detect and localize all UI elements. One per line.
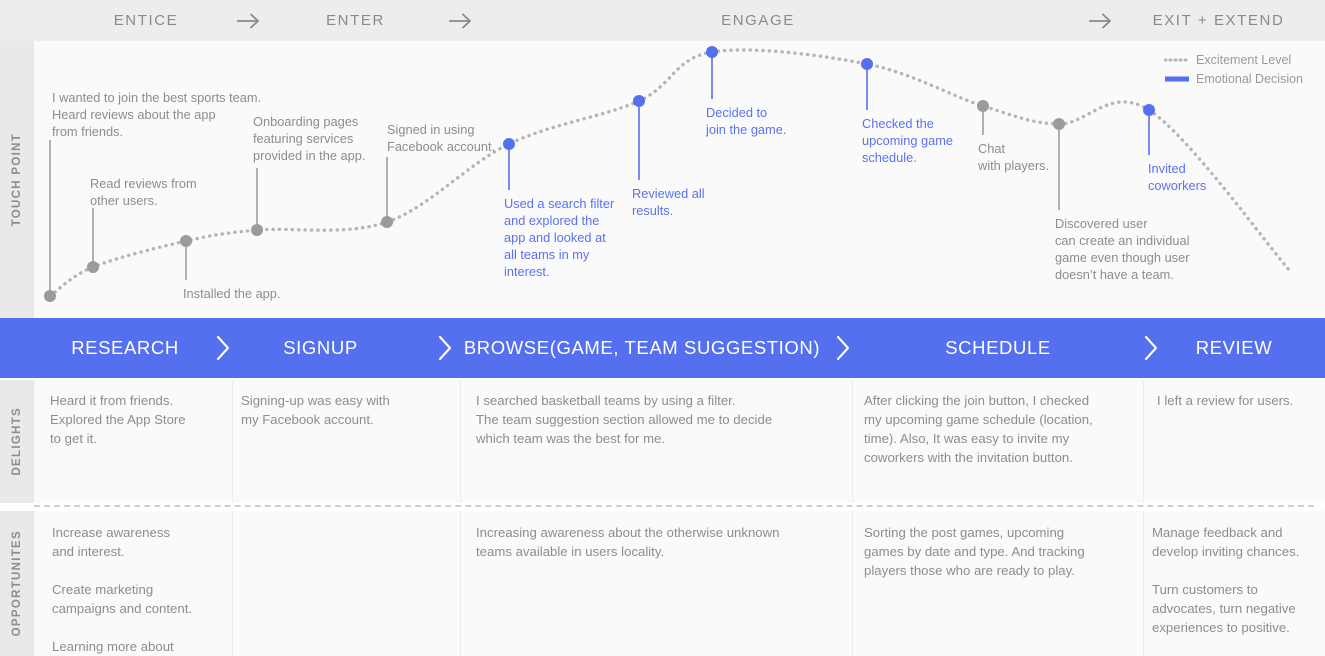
touchpoint-dot[interactable] [503, 138, 515, 150]
stage-label: SIGNUP [283, 337, 358, 359]
phase-entice[interactable]: ENTICE [40, 0, 252, 41]
row-label-touchpoint: TOUCH POINT [0, 41, 34, 318]
solid-line-icon [1164, 75, 1190, 83]
stage-signup[interactable]: SIGNUP [238, 318, 403, 378]
row-label-touchpoint-text: TOUCH POINT [11, 133, 23, 226]
arrow-right-icon [234, 0, 264, 41]
touchpoint-dot[interactable] [180, 235, 192, 247]
row-label-opportunities: OPPORTUNITES [0, 511, 34, 656]
touchpoint-note: Chat with players. [978, 140, 1049, 174]
delights-cell: Heard it from friends. Explored the App … [50, 391, 240, 448]
chevron-right-icon [1138, 318, 1164, 378]
touchpoint-dot[interactable] [87, 261, 99, 273]
phase-header-bar: ENTICEENTERENGAGEEXIT + EXTEND [0, 0, 1325, 41]
legend-label-emotional: Emotional Decision [1196, 72, 1303, 86]
stage-schedule[interactable]: SCHEDULE [862, 318, 1134, 378]
touchpoint-note: Installed the app. [183, 285, 280, 302]
touchpoint-dot[interactable] [1143, 104, 1155, 116]
touchpoint-note: Used a search filter and explored the ap… [504, 195, 614, 280]
touchpoint-dot[interactable] [44, 290, 56, 302]
column-separator [460, 511, 461, 656]
touchpoint-dot[interactable] [251, 224, 263, 236]
opportunities-cell: Increase awareness and interest. Create … [52, 523, 252, 656]
phase-label: ENTER [326, 12, 385, 29]
touchpoint-dot[interactable] [861, 58, 873, 70]
phase-exit-extend[interactable]: EXIT + EXTEND [1120, 0, 1317, 41]
delights-cell: After clicking the join button, I checke… [864, 391, 1154, 467]
touchpoint-note: Discovered user can create an individual… [1055, 215, 1189, 283]
phase-enter[interactable]: ENTER [252, 0, 459, 41]
column-separator [460, 380, 461, 503]
touchpoint-dot[interactable] [381, 216, 393, 228]
chevron-right-icon [830, 318, 856, 378]
touchpoint-note: Reviewed all results. [632, 185, 705, 219]
touchpoint-note: Decided to join the game. [706, 104, 786, 138]
stage-label: SCHEDULE [945, 337, 1051, 359]
row-label-delights-text: DELIGHTS [11, 407, 23, 476]
opportunities-cell: Increasing awareness about the otherwise… [476, 523, 861, 561]
touchpoint-dot[interactable] [1053, 118, 1065, 130]
phase-label: ENTICE [114, 12, 179, 29]
legend-item-emotional: Emotional Decision [1164, 69, 1303, 88]
stage-label: RESEARCH [71, 337, 179, 359]
row-label-delights: DELIGHTS [0, 380, 34, 503]
touchpoint-note: Signed in using Facebook account. [387, 121, 495, 155]
section-divider [34, 505, 1314, 507]
delights-cell: I left a review for users. [1157, 391, 1325, 410]
touchpoint-dot[interactable] [977, 100, 989, 112]
opportunities-cell: Manage feedback and develop inviting cha… [1152, 523, 1325, 637]
journey-map: ENTICEENTERENGAGEEXIT + EXTEND TOUCH POI… [0, 0, 1325, 656]
touchpoint-note: Invited coworkers [1148, 160, 1206, 194]
delights-cell: I searched basketball teams by using a f… [476, 391, 861, 448]
chart-legend: Excitement Level Emotional Decision [1164, 50, 1303, 88]
dotted-line-icon [1164, 57, 1190, 63]
stage-label: BROWSE(GAME, TEAM SUGGESTION) [464, 337, 820, 359]
stage-research[interactable]: RESEARCH [40, 318, 210, 378]
legend-label-excitement: Excitement Level [1196, 53, 1291, 67]
touchpoint-note: Read reviews from other users. [90, 175, 197, 209]
touchpoint-note: Onboarding pages featuring services prov… [253, 113, 365, 164]
arrow-right-icon [446, 0, 476, 41]
delights-cell: Signing-up was easy with my Facebook acc… [241, 391, 456, 429]
phase-label: EXIT + EXTEND [1153, 12, 1285, 29]
touchpoint-note: I wanted to join the best sports team. H… [52, 89, 261, 140]
phase-label: ENGAGE [721, 12, 795, 29]
legend-item-excitement: Excitement Level [1164, 50, 1303, 69]
opportunities-cell: Sorting the post games, upcoming games b… [864, 523, 1144, 580]
chevron-right-icon [210, 318, 236, 378]
touchpoint-dot[interactable] [633, 95, 645, 107]
stage-label: REVIEW [1196, 337, 1273, 359]
stage-browse[interactable]: BROWSE(GAME, TEAM SUGGESTION) [462, 318, 822, 378]
touchpoint-dot[interactable] [706, 46, 718, 58]
stage-review[interactable]: REVIEW [1160, 318, 1308, 378]
touchpoint-note: Checked the upcoming game schedule. [862, 115, 953, 166]
chevron-right-icon [432, 318, 458, 378]
stage-bar: RESEARCHSIGNUPBROWSE(GAME, TEAM SUGGESTI… [0, 318, 1325, 378]
row-label-opportunities-text: OPPORTUNITES [11, 530, 23, 636]
arrow-right-icon [1086, 0, 1116, 41]
phase-engage[interactable]: ENGAGE [475, 0, 1041, 41]
